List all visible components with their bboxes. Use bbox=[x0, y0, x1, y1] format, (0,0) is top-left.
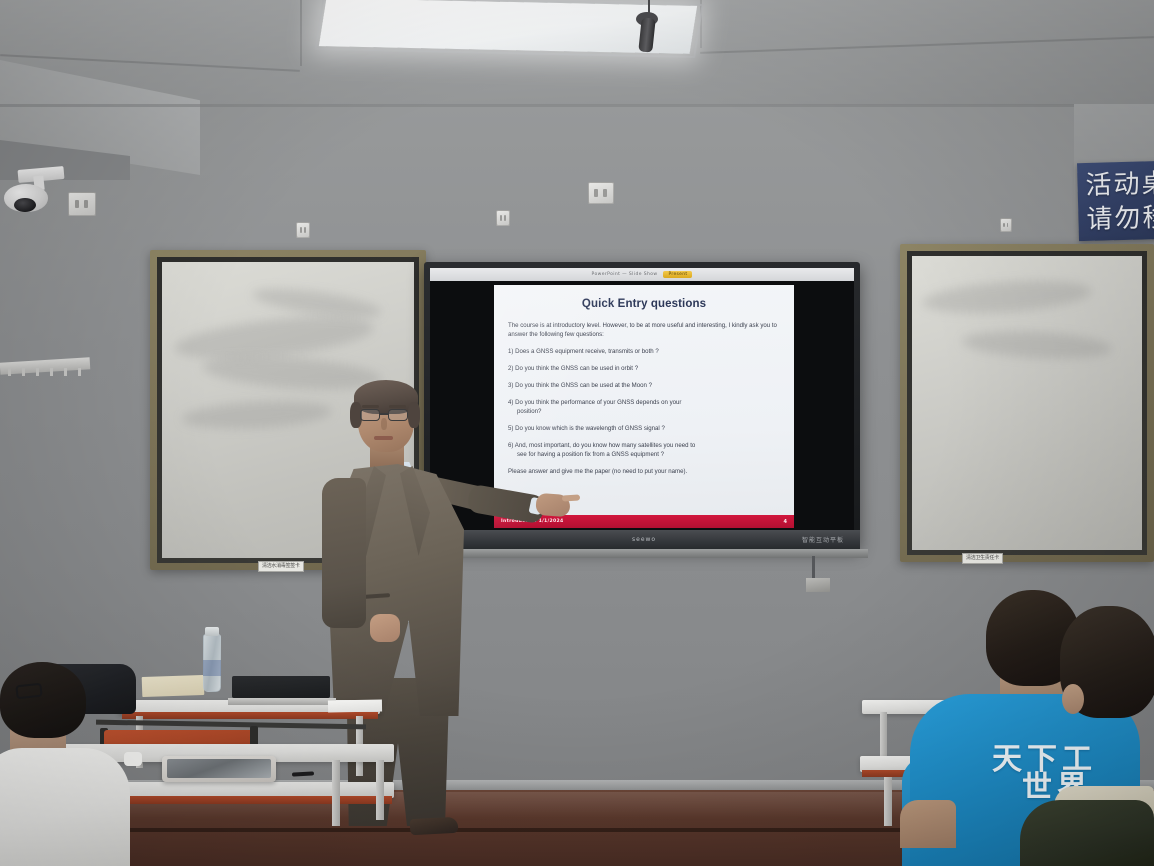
wall-hook bbox=[78, 368, 81, 376]
whiteboard-right-label: 清洁卫生责任卡 bbox=[962, 553, 1003, 564]
whiteboard-right: 清洁卫生责任卡 bbox=[900, 244, 1154, 562]
camera-lens bbox=[14, 198, 36, 212]
eyeglasses-icon bbox=[15, 683, 42, 700]
wall-switch-icon bbox=[296, 222, 310, 238]
presenter-shoe bbox=[410, 817, 459, 835]
presenter-left-hand bbox=[370, 614, 400, 642]
wall-hook bbox=[36, 368, 39, 376]
wall-junction-box bbox=[806, 578, 830, 592]
wall-hook bbox=[8, 368, 11, 376]
presenter-eyebrow bbox=[389, 405, 406, 408]
presenter-nose bbox=[381, 418, 387, 430]
slide-page-number: 4 bbox=[784, 519, 787, 525]
eyeglasses-icon bbox=[360, 409, 380, 421]
desk-leg bbox=[376, 760, 384, 820]
presenter-left-arm bbox=[322, 478, 366, 628]
wall-switch-icon bbox=[496, 210, 510, 226]
laptop-keyboard[interactable] bbox=[228, 698, 336, 705]
bottle-label bbox=[203, 660, 221, 676]
wall-hook bbox=[64, 368, 67, 376]
whiteboard-right-inner bbox=[907, 251, 1147, 555]
slide-intro-paragraph: The course is at introductory level. How… bbox=[508, 322, 780, 339]
student-right-torso bbox=[1020, 800, 1154, 866]
presentation-app-toolbar[interactable]: PowerPoint — Slide Show Present bbox=[430, 268, 854, 281]
wall-seam bbox=[0, 104, 1154, 107]
eyeglasses-bridge bbox=[380, 413, 388, 415]
wall-hook bbox=[50, 368, 53, 376]
toolbar-title: PowerPoint — Slide Show bbox=[592, 272, 658, 277]
slide-question: 1) Does a GNSS equipment receive, transm… bbox=[508, 348, 780, 357]
whiteboard-smudge bbox=[961, 328, 1112, 362]
student-right-ear bbox=[1062, 684, 1084, 714]
student-left-torso bbox=[0, 748, 130, 866]
whiteboard-left-label: 清洁水消毒签签卡 bbox=[258, 561, 304, 572]
bottle-cap bbox=[205, 627, 219, 636]
laptop-screen[interactable] bbox=[232, 676, 330, 698]
presenter-eyebrow bbox=[362, 405, 379, 408]
wall-notice-sign: 活动桌 请勿移 bbox=[1077, 161, 1154, 241]
student-left-head bbox=[0, 662, 86, 738]
whiteboard-smudge bbox=[921, 276, 1093, 318]
paper-stack bbox=[142, 675, 205, 697]
classroom-photo-scene: 活动桌 请勿移 清洁水消毒签签卡 清洁卫生责任卡 Pow bbox=[0, 0, 1154, 866]
sign-line-2: 请勿移 bbox=[1086, 201, 1154, 237]
slide-question: 2) Do you think the GNSS can be used in … bbox=[508, 365, 780, 374]
question-text: Do you think the GNSS can be used in orb… bbox=[515, 365, 638, 372]
desk-leg bbox=[884, 770, 892, 826]
question-number: 1) bbox=[508, 348, 513, 355]
desk-edge bbox=[122, 712, 378, 719]
display-brand-label-cn: 智能互动平板 bbox=[802, 535, 844, 544]
eyeglasses-icon bbox=[388, 409, 408, 421]
question-text: Does a GNSS equipment receive, transmits… bbox=[515, 348, 659, 355]
wall-hook bbox=[22, 368, 25, 376]
ceiling-tile-seam bbox=[300, 0, 302, 66]
paper-sheet bbox=[328, 700, 382, 713]
whiteboard-smudge bbox=[181, 398, 332, 432]
question-number: 2) bbox=[508, 365, 513, 372]
wall-switch-icon bbox=[1000, 218, 1012, 232]
tissue bbox=[124, 752, 142, 766]
power-outlet-icon bbox=[68, 192, 96, 216]
student-blue-forearm bbox=[900, 800, 956, 848]
slide-title: Quick Entry questions bbox=[508, 298, 780, 310]
presenter-index-finger bbox=[562, 494, 580, 501]
desk-leg bbox=[332, 760, 340, 826]
presenter-mouth bbox=[374, 436, 393, 440]
display-brand-logo: seewo bbox=[632, 536, 656, 543]
whiteboard-right-surface bbox=[912, 256, 1142, 550]
tablet-screen[interactable] bbox=[167, 759, 271, 778]
present-button[interactable]: Present bbox=[663, 271, 692, 278]
power-outlet-icon bbox=[588, 182, 614, 204]
presenter-hair-side bbox=[408, 402, 420, 428]
sign-line-1: 活动桌 bbox=[1085, 167, 1154, 203]
